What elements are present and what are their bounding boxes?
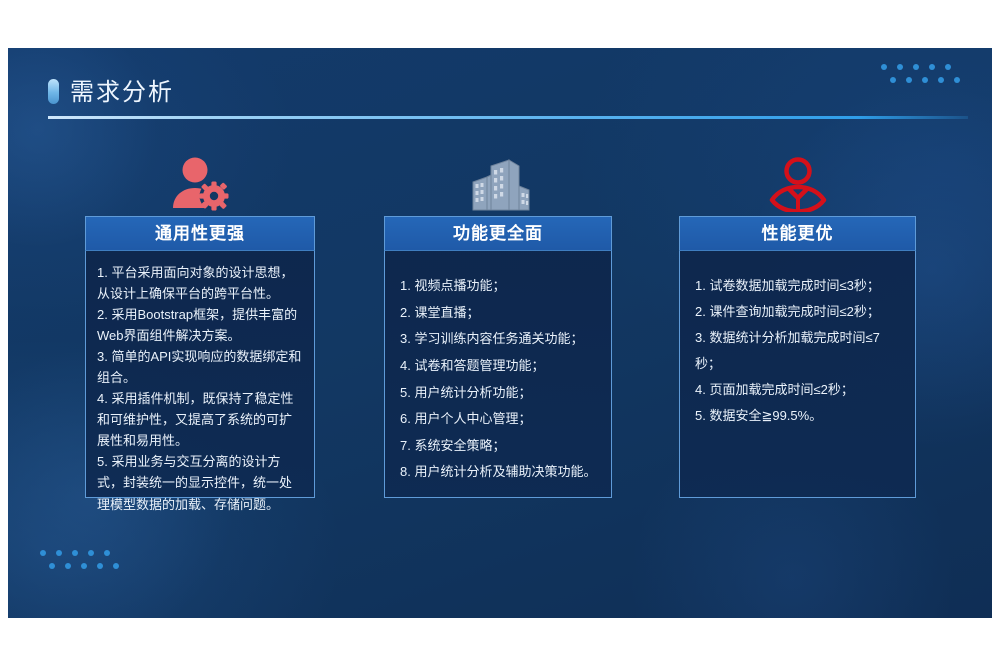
feature-card-title: 性能更优 [679,216,916,250]
dot [881,64,887,70]
dot [922,77,928,83]
list-item: 4. 试卷和答题管理功能； [396,353,600,380]
feature-card-functionality: 功能更全面 1. 视频点播功能； 2. 课堂直播； 3. 学习训练内容任务通关功… [384,216,612,498]
list-item: 1. 试卷数据加载完成时间≤3秒； [691,273,904,299]
feature-card-title: 功能更全面 [384,216,612,250]
dot [954,77,960,83]
dot [890,77,896,83]
feature-card-performance: 性能更优 1. 试卷数据加载完成时间≤3秒； 2. 课件查询加载完成时间≤2秒；… [679,216,916,498]
buildings-icon [384,150,612,212]
title-underline [48,116,968,119]
dot-row [890,77,970,90]
slide-header: 需求分析 [40,68,960,124]
list-item: 7. 系统安全策略； [396,433,600,460]
slide-frame: 需求分析 [0,0,1000,667]
list-item: 3. 简单的API实现响应的数据绑定和组合。 [97,346,303,388]
slide-canvas: 需求分析 [8,48,992,618]
user-gear-icon [85,150,315,212]
title-pill-icon [48,79,59,104]
list-item: 2. 课件查询加载完成时间≤2秒； [691,299,904,325]
feature-card-group: 通用性更强 1. 平台采用面向对象的设计思想，从设计上确保平台的跨平台性。 2.… [8,148,992,568]
list-item: 1. 平台采用面向对象的设计思想，从设计上确保平台的跨平台性。 [97,262,303,304]
feature-card-body: 1. 视频点播功能； 2. 课堂直播； 3. 学习训练内容任务通关功能； 4. … [384,250,612,498]
page-title: 需求分析 [70,72,174,107]
dot [945,64,951,70]
list-item: 5. 采用业务与交互分离的设计方式，封装统一的显示控件，统一处理模型数据的加载、… [97,451,303,514]
feature-card-body: 1. 平台采用面向对象的设计思想，从设计上确保平台的跨平台性。 2. 采用Boo… [85,250,315,498]
list-item: 5. 数据安全≧99.5%。 [691,403,904,429]
feature-card-title: 通用性更强 [85,216,315,250]
dot [897,64,903,70]
dot [913,64,919,70]
dot [929,64,935,70]
list-item: 1. 视频点播功能； [396,273,600,300]
list-item: 3. 学习训练内容任务通关功能； [396,326,600,353]
dot-grid-top-right [881,64,970,90]
list-item: 5. 用户统计分析功能； [396,380,600,407]
list-item: 3. 数据统计分析加载完成时间≤7秒； [691,325,904,377]
list-item: 2. 课堂直播； [396,300,600,327]
list-item: 2. 采用Bootstrap框架，提供丰富的Web界面组件解决方案。 [97,304,303,346]
feature-card-body: 1. 试卷数据加载完成时间≤3秒； 2. 课件查询加载完成时间≤2秒； 3. 数… [679,250,916,498]
list-item: 8. 用户统计分析及辅助决策功能。 [396,459,600,486]
businessperson-icon [679,150,916,212]
list-item: 6. 用户个人中心管理； [396,406,600,433]
dot [906,77,912,83]
feature-card-generality: 通用性更强 1. 平台采用面向对象的设计思想，从设计上确保平台的跨平台性。 2.… [85,216,315,498]
dot-row [881,64,970,77]
list-item: 4. 采用插件机制，既保持了稳定性和可维护性，又提高了系统的可扩展性和易用性。 [97,388,303,451]
dot [938,77,944,83]
list-item: 4. 页面加载完成时间≤2秒； [691,377,904,403]
